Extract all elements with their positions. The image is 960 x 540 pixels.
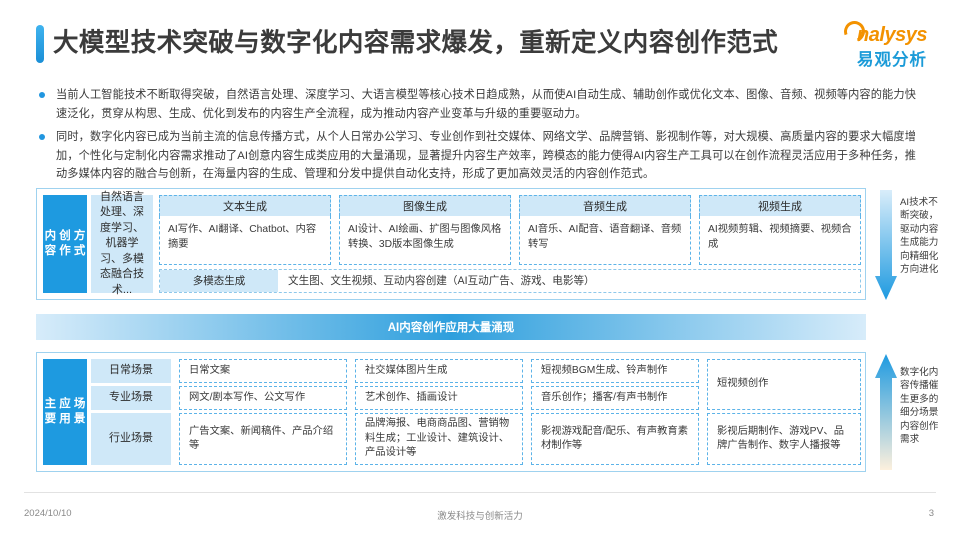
up-arrow-note: 数字化内容传播催生更多的细分场景内容创作需求: [900, 366, 944, 446]
column-body-video-generation: AI视频剪辑、视频摘要、视频合成: [699, 216, 861, 265]
bullet-dot-icon: [39, 92, 45, 98]
table-cell-audio-industry: 影视游戏配音/配乐、有声教育素材制作等: [531, 413, 699, 465]
column-header-image-generation: 图像生成: [339, 195, 511, 216]
column-body-audio-generation: AI音乐、AI配音、语音翻译、音频转写: [519, 216, 691, 265]
table-cell-audio-professional: 音乐创作；播客/有声书制作: [531, 386, 699, 410]
logo-wordmark: nalysys: [840, 20, 944, 50]
multimodal-row: 多模态生成 文生图、文生视频、互动内容创建（AI互动广告、游戏、电影等）: [159, 269, 861, 293]
bullet-text: 同时，数字化内容已成为当前主流的信息传播方式，从个人日常办公学习、专业创作到社交…: [56, 128, 916, 184]
title-accent-bar: [36, 25, 44, 63]
table-cell-audio-daily: 短视频BGM生成、铃声制作: [531, 359, 699, 383]
column-header-video-generation: 视频生成: [699, 195, 861, 216]
table-cell-text-professional: 网文/剧本写作、公文写作: [179, 386, 347, 410]
list-item: 当前人工智能技术不断取得突破，自然语言处理、深度学习、大语言模型等核心技术日趋成…: [36, 86, 916, 123]
title-text: 大模型技术突破与数字化内容需求爆发，重新定义内容创作范式: [53, 31, 778, 57]
table-cell-text-daily: 日常文案: [179, 359, 347, 383]
table-cell-image-professional: 艺术创作、插画设计: [355, 386, 523, 410]
application-scenarios-panel: 主要应用场景 日常场景 专业场景 行业场景 日常文案 网文/剧本写作、公文写作 …: [36, 352, 866, 472]
footer-divider: [24, 492, 936, 493]
bullet-text: 当前人工智能技术不断取得突破，自然语言处理、深度学习、大语言模型等核心技术日趋成…: [56, 86, 916, 123]
table-cell-video-merged: 短视频创作: [707, 359, 861, 410]
slide-root: 大模型技术突破与数字化内容需求爆发，重新定义内容创作范式 nalysys 易观分…: [0, 0, 960, 540]
table-cell-video-industry: 影视后期制作、游戏PV、品牌广告制作、数字人播报等: [707, 413, 861, 465]
logo-wordmark-text: nalysys: [857, 24, 927, 46]
core-technologies-label: 自然语言处理、深度学习、机器学习、多模态融合技术...: [91, 195, 153, 293]
application-scenarios-spine-label: 主要应用场景: [43, 359, 87, 465]
table-cell-image-daily: 社交媒体图片生成: [355, 359, 523, 383]
footer-tagline: 激发科技与创新活力: [0, 508, 960, 522]
table-cell-image-industry: 品牌海报、电商商品图、营销物料生成；工业设计、建筑设计、产品设计等: [355, 413, 523, 465]
column-header-text-generation: 文本生成: [159, 195, 331, 216]
column-body-image-generation: AI设计、AI绘画、扩图与图像风格转换、3D版本图像生成: [339, 216, 511, 265]
content-creation-panel: 内容创作方式 自然语言处理、深度学习、机器学习、多模态融合技术... 文本生成 …: [36, 188, 866, 300]
table-cell-text-industry: 广告文案、新闻稿件、产品介绍等: [179, 413, 347, 465]
up-arrow-icon: [874, 354, 898, 470]
column-header-audio-generation: 音频生成: [519, 195, 691, 216]
content-creation-spine-label: 内容创作方式: [43, 195, 87, 293]
multimodal-tag: 多模态生成: [160, 270, 278, 292]
ai-applications-banner: AI内容创作应用大量涌现: [36, 314, 866, 340]
row-label-professional: 专业场景: [91, 386, 171, 410]
page-title: 大模型技术突破与数字化内容需求爆发，重新定义内容创作范式: [36, 22, 846, 66]
row-label-industry: 行业场景: [91, 413, 171, 465]
down-arrow-icon: [874, 190, 898, 302]
bullet-dot-icon: [39, 134, 45, 140]
multimodal-description: 文生图、文生视频、互动内容创建（AI互动广告、游戏、电影等）: [288, 270, 595, 292]
logo-subtitle: 易观分析: [840, 50, 944, 70]
column-body-text-generation: AI写作、AI翻译、Chatbot、内容摘要: [159, 216, 331, 265]
analysys-logo: nalysys 易观分析: [840, 20, 944, 76]
bullet-list: 当前人工智能技术不断取得突破，自然语言处理、深度学习、大语言模型等核心技术日趋成…: [36, 86, 916, 189]
down-arrow-note: AI技术不断突破，驱动内容生成能力向精细化方向进化: [900, 196, 944, 276]
footer-page-number: 3: [929, 508, 934, 519]
row-label-daily: 日常场景: [91, 359, 171, 383]
list-item: 同时，数字化内容已成为当前主流的信息传播方式，从个人日常办公学习、专业创作到社交…: [36, 128, 916, 184]
